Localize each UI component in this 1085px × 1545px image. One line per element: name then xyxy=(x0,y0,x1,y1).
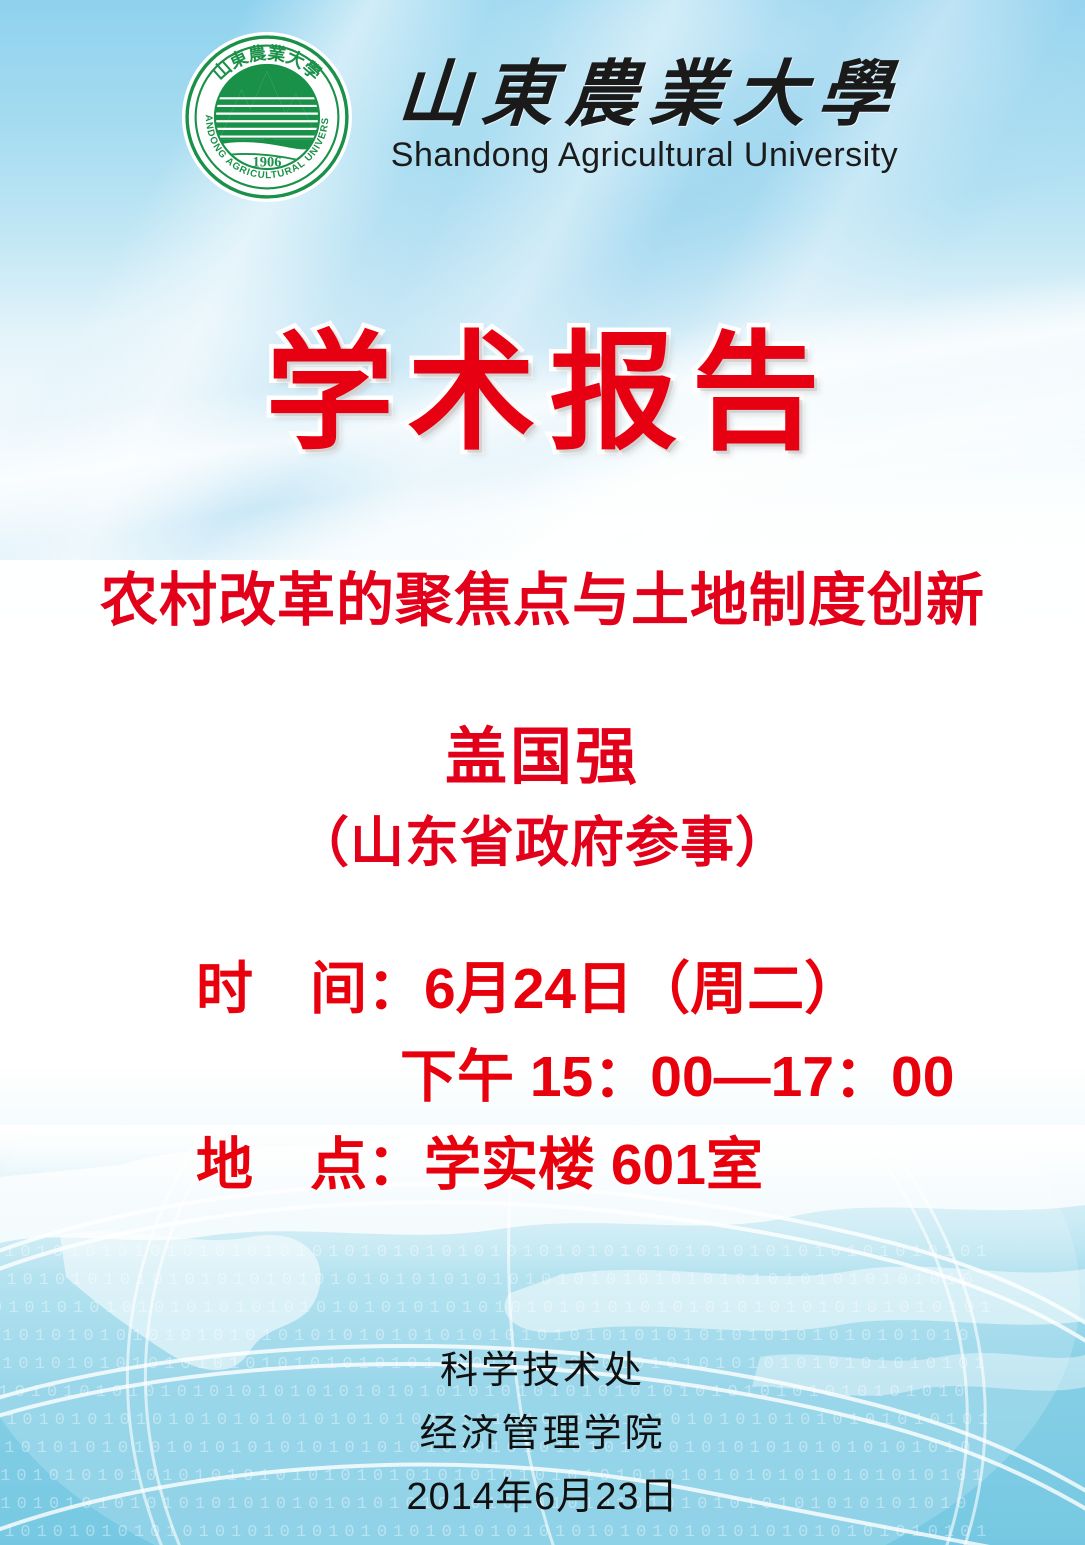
speaker-name: 盖国强 xyxy=(0,706,1085,796)
university-header: 山東農業大學 SHANDONG AGRICULTURAL UNIVERSITY … xyxy=(0,22,1085,212)
binary-texture-row: 0101010101010101010101010101010101010101… xyxy=(0,1243,993,1262)
binary-texture-row: 1010101010101010101010101010101010101010… xyxy=(0,1271,979,1290)
detail-place: 地 点：学实楼 601室 xyxy=(0,1121,1085,1209)
detail-time-hours: 下午 15：00—17：00 xyxy=(0,1033,1085,1121)
footer-issue-date: 2014年6月23日 xyxy=(0,1466,1085,1529)
university-seal-icon: 山東農業大學 SHANDONG AGRICULTURAL UNIVERSITY … xyxy=(182,32,352,202)
footer-organizer-science-tech: 科学技术处 xyxy=(0,1340,1085,1403)
speaker-affiliation: （山东省政府参事） xyxy=(0,798,1085,877)
university-name-en: Shandong Agricultural University xyxy=(391,136,898,175)
detail-time-date: 时 间：6月24日（周二） xyxy=(0,945,1085,1033)
binary-texture-row: 0101010101010101010101010101010101010101… xyxy=(0,1299,997,1318)
lecture-topic: 农村改革的聚焦点与土地制度创新 xyxy=(0,566,1085,636)
university-name-cn: 山東農業大學 xyxy=(384,59,905,132)
seal-year: 1906 xyxy=(253,154,282,170)
event-details: 时 间：6月24日（周二） 下午 15：00—17：00 地 点：学实楼 601… xyxy=(0,945,1085,1209)
footer-organizer-college: 经济管理学院 xyxy=(0,1403,1085,1466)
poster-canvas: 0101010101010101010101010101010101010101… xyxy=(0,0,1085,1545)
poster-footer: 科学技术处 经济管理学院 2014年6月23日 xyxy=(0,1340,1085,1529)
poster-main-title: 学术报告 xyxy=(0,330,1085,458)
university-name-block: 山東農業大學 Shandong Agricultural University xyxy=(386,59,902,175)
